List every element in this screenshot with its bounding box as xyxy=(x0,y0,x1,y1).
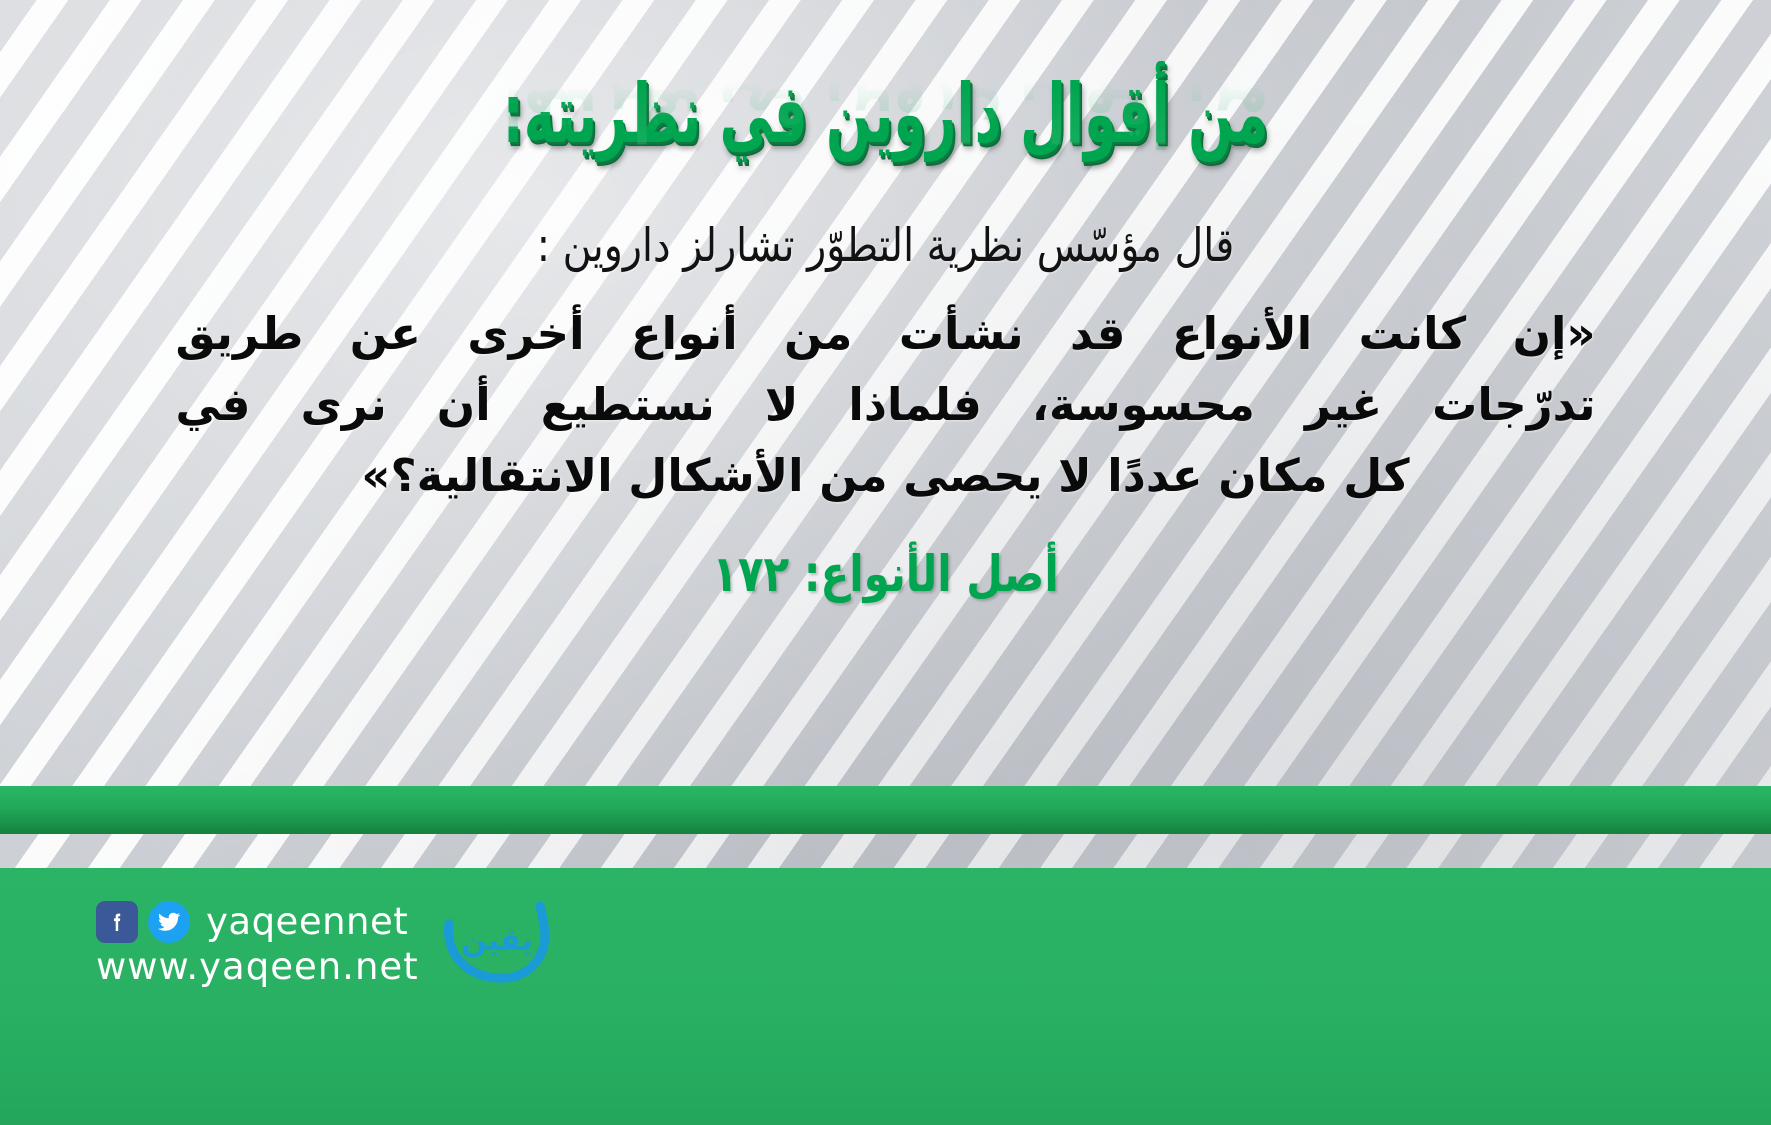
quote-body: «إن كانت الأنواع قد نشأت من أنواع أخرى ع… xyxy=(176,298,1596,511)
website-url[interactable]: www.yaqeen.net xyxy=(96,945,419,988)
quote-line: تدرّجات غير محسوسة، فلماذا لا نستطيع أن … xyxy=(176,369,1596,440)
source-citation: أصل الأنواع: ١٧٢ xyxy=(182,545,1589,603)
green-divider-band xyxy=(0,786,1771,834)
quote-line: «إن كانت الأنواع قد نشأت من أنواع أخرى ع… xyxy=(176,298,1596,369)
footer-text-block: yaqeennet www.yaqeen.net xyxy=(96,900,419,988)
logo-wordmark: يقين xyxy=(461,923,533,958)
poster-content: من أقوال داروين في نظريته: من أقوال دارو… xyxy=(0,0,1771,603)
subtitle-attribution: قال مؤسّس نظرية التطوّر تشارلز داروين : xyxy=(165,218,1606,272)
divider-gap xyxy=(0,834,1771,868)
footer-content: يقين yaqeennet xyxy=(96,894,551,990)
social-row: yaqeennet xyxy=(96,900,408,943)
quote-line: كل مكان عددًا لا يحصى من الأشكال الانتقا… xyxy=(176,440,1596,511)
facebook-icon[interactable] xyxy=(96,901,138,943)
page-title: من أقوال داروين في نظريته: xyxy=(216,74,1556,156)
twitter-icon[interactable] xyxy=(148,901,190,943)
footer-bar: يقين yaqeennet xyxy=(0,868,1771,1125)
yaqeen-logo-icon[interactable]: يقين xyxy=(439,894,551,990)
title-block: من أقوال داروين في نظريته: من أقوال دارو… xyxy=(48,74,1723,192)
poster-canvas: من أقوال داروين في نظريته: من أقوال دارو… xyxy=(0,0,1771,1125)
social-handle[interactable]: yaqeennet xyxy=(206,900,408,943)
